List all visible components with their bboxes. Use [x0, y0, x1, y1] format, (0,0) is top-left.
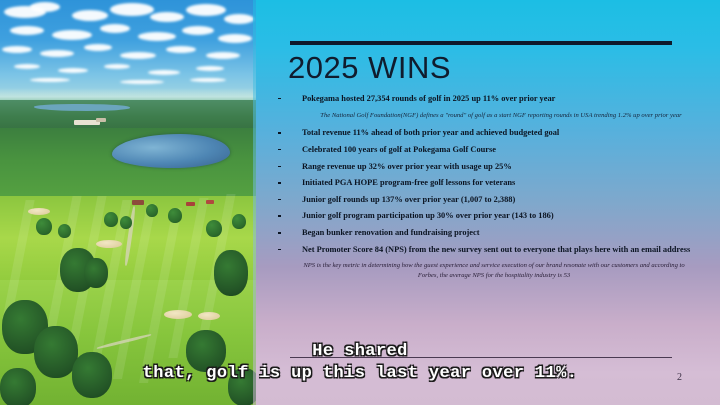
sand-bunker	[28, 208, 50, 215]
cloud	[110, 3, 154, 16]
bullet-marker-icon	[278, 199, 281, 200]
slide-content: 2025 WINS Pokegama hosted 27,354 rounds …	[256, 0, 720, 405]
list-item-label: Began bunker renovation and fundraising …	[302, 228, 480, 237]
cloud	[10, 26, 44, 35]
tree	[168, 208, 182, 223]
bullet-marker-icon	[278, 166, 281, 167]
list-item-label: Range revenue up 32% over prior year wit…	[302, 162, 512, 171]
list-item: Pokegama hosted 27,354 rounds of golf in…	[270, 94, 718, 104]
ngf-footnote: The National Golf Foundation(NGF) define…	[270, 111, 718, 121]
list-item: Began bunker renovation and fundraising …	[270, 228, 718, 238]
cloud	[218, 34, 252, 43]
page-number: 2	[677, 372, 682, 383]
list-item: Range revenue up 32% over prior year wit…	[270, 162, 718, 172]
page-title: 2025 WINS	[288, 50, 451, 86]
tree-grove	[72, 352, 112, 398]
list-item: Total revenue 11% ahead of both prior ye…	[270, 128, 718, 138]
list-item-label: Junior golf rounds up 137% over prior ye…	[302, 195, 515, 204]
presentation-slide: 2025 WINS Pokegama hosted 27,354 rounds …	[0, 0, 720, 405]
tree	[206, 220, 222, 237]
tree	[104, 212, 118, 227]
title-divider-rule	[290, 41, 672, 45]
tree-grove	[84, 258, 108, 288]
sand-bunker	[198, 312, 220, 320]
course-building	[206, 200, 214, 204]
tree	[58, 224, 71, 238]
bullet-marker-icon	[278, 215, 281, 216]
wins-bullet-list: Pokegama hosted 27,354 rounds of golf in…	[270, 94, 718, 289]
cloud	[120, 52, 156, 59]
tree	[36, 218, 52, 235]
cloud	[190, 78, 226, 82]
outbuilding	[96, 118, 106, 122]
cloud	[72, 10, 108, 21]
tree-grove	[214, 250, 248, 296]
bullet-marker-icon	[278, 249, 281, 250]
tree-grove	[0, 368, 36, 405]
bullet-marker-icon	[278, 182, 281, 183]
list-item-label: Total revenue 11% ahead of both prior ye…	[302, 128, 559, 137]
cloud	[52, 30, 92, 40]
list-item-label: Celebrated 100 years of golf at Pokegama…	[302, 145, 496, 154]
cloud	[2, 46, 32, 53]
list-item-label: Junior golf program participation up 30%…	[302, 211, 554, 220]
cloud	[206, 52, 240, 59]
course-building	[186, 202, 195, 206]
cloud	[150, 12, 184, 22]
tree-grove	[186, 330, 226, 372]
tree	[120, 216, 132, 229]
cloud	[84, 44, 112, 51]
tree	[146, 204, 158, 217]
cloud	[104, 64, 130, 69]
list-item: Junior golf rounds up 137% over prior ye…	[270, 195, 718, 205]
cloud	[166, 46, 196, 53]
cloud	[120, 80, 164, 84]
tree	[232, 214, 246, 229]
aerial-golf-course-photo	[0, 0, 256, 405]
list-item: Celebrated 100 years of golf at Pokegama…	[270, 145, 718, 155]
nps-footnote: NPS is the key metric in determining how…	[270, 261, 718, 280]
list-item: Net Promoter Score 84 (NPS) from the new…	[270, 245, 718, 255]
cloud	[100, 24, 130, 33]
cloud	[224, 14, 254, 24]
cloud	[182, 26, 214, 35]
list-item-label: Net Promoter Score 84 (NPS) from the new…	[302, 245, 690, 254]
bullet-marker-icon	[278, 232, 281, 233]
bullet-marker-icon	[278, 132, 281, 133]
cloud	[30, 78, 70, 82]
cloud	[30, 2, 60, 12]
cloud	[14, 64, 40, 69]
course-building	[132, 200, 144, 205]
cloud	[196, 66, 224, 71]
tree-grove	[228, 368, 256, 405]
bullet-marker-icon	[278, 98, 281, 99]
cloud	[138, 32, 176, 41]
cloud	[148, 70, 180, 75]
cloud	[58, 68, 88, 73]
bullet-marker-icon	[278, 149, 281, 150]
sand-bunker	[96, 240, 122, 248]
footer-divider-rule	[290, 357, 672, 358]
list-item: Initiated PGA HOPE program-free golf les…	[270, 178, 718, 188]
list-item-label: Initiated PGA HOPE program-free golf les…	[302, 178, 515, 187]
list-item-label: Pokegama hosted 27,354 rounds of golf in…	[302, 94, 555, 103]
list-item: Junior golf program participation up 30%…	[270, 211, 718, 221]
cloud	[186, 4, 226, 16]
sand-bunker	[164, 310, 192, 319]
cloud	[40, 50, 74, 57]
